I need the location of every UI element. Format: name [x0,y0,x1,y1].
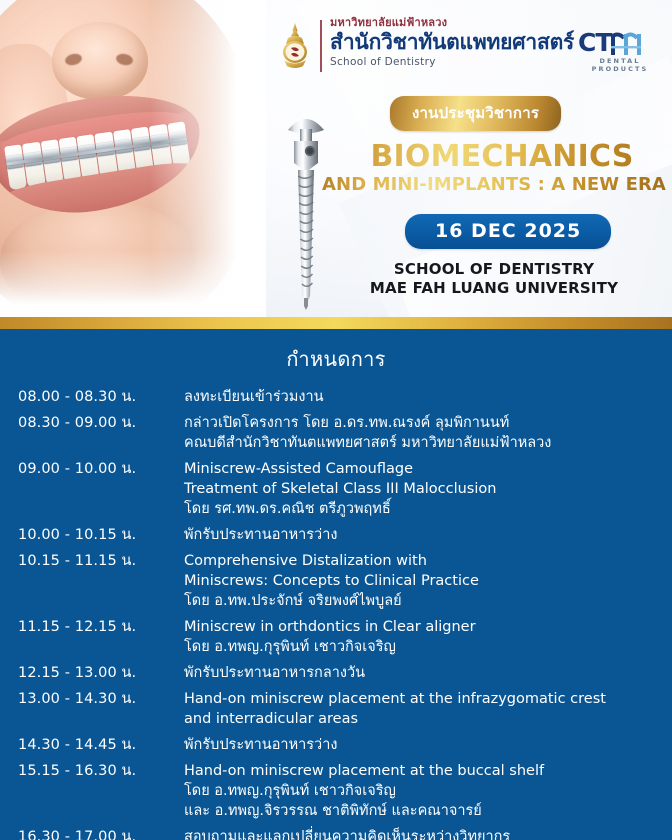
venue-line-1: SCHOOL OF DENTISTRY [318,260,670,279]
schedule-row-line: สอบถามและแลกเปลี่ยนความคิดเห็นระหว่างวิท… [184,827,658,840]
schedule-row-line: พักรับประทานอาหารว่าง [184,525,658,545]
schedule-row: 08.00 - 08.30 น.ลงทะเบียนเข้าร่วมงาน [18,387,658,407]
schedule-row-line: Hand-on miniscrew placement at the infra… [184,689,658,709]
ctm-dental-products-logo: CT DENTAL PRODUCTS [578,30,662,64]
schedule-row-description: Miniscrew-Assisted CamouflageTreatment o… [184,459,658,519]
schedule-row: 16.30 - 17.00 น.สอบถามและแลกเปลี่ยนความค… [18,827,658,840]
schedule-row-line: Miniscrew-Assisted Camouflage [184,459,658,479]
schedule-rows: 08.00 - 08.30 น.ลงทะเบียนเข้าร่วมงาน08.3… [0,387,672,840]
ctm-letters: CT [578,30,611,55]
schedule-section: กำหนดการ 08.00 - 08.30 น.ลงทะเบียนเข้าร่… [0,329,672,840]
schedule-row-time: 14.30 - 14.45 น. [18,735,184,755]
schedule-row-line: โดย อ.ทพญ.กุรุพินท์ เชาวกิจเจริญ [184,781,658,801]
schedule-row-time: 12.15 - 13.00 น. [18,663,184,683]
schedule-row-line: Comprehensive Distalization with [184,551,658,571]
schedule-row-line: Hand-on miniscrew placement at the bucca… [184,761,658,781]
schedule-row-time: 08.30 - 09.00 น. [18,413,184,433]
schedule-row-description: พักรับประทานอาหารว่าง [184,525,658,545]
schedule-row-time: 15.15 - 16.30 น. [18,761,184,781]
schedule-row-line: โดย อ.ทพญ.กุรุพินท์ เชาวกิจเจริญ [184,637,658,657]
schedule-row: 14.30 - 14.45 น.พักรับประทานอาหารว่าง [18,735,658,755]
schedule-row-time: 16.30 - 17.00 น. [18,827,184,840]
event-date-badge: 16 DEC 2025 [405,214,611,249]
schedule-row: 10.00 - 10.15 น.พักรับประทานอาหารว่าง [18,525,658,545]
schedule-row-description: Hand-on miniscrew placement at the bucca… [184,761,658,821]
schedule-row-time: 08.00 - 08.30 น. [18,387,184,407]
schedule-row: 13.00 - 14.30 น.Hand-on miniscrew placem… [18,689,658,729]
schedule-row-description: Miniscrew in orthdontics in Clear aligne… [184,617,658,657]
schedule-row-line: and interradicular areas [184,709,658,729]
event-type-badge: งานประชุมวิชาการ [390,96,561,131]
ctm-bridge-icon [611,30,641,55]
schedule-row-line: พักรับประทานอาหารกลางวัน [184,663,658,683]
schedule-row-time: 11.15 - 12.15 น. [18,617,184,637]
schedule-row: 09.00 - 10.00 น.Miniscrew-Assisted Camou… [18,459,658,519]
schedule-row-description: กล่าวเปิดโครงการ โดย อ.ดร.ทพ.ณรงค์ ลุมพิ… [184,413,658,453]
school-name-thai: สำนักวิชาทันตแพทยศาสตร์ [330,30,560,54]
university-name-thai: มหาวิทยาลัยแม่ฟ้าหลวง [330,16,560,29]
university-logo-text: มหาวิทยาลัยแม่ฟ้าหลวง สำนักวิชาทันตแพทยศ… [330,16,560,69]
poster-subtitle: AND MINI-IMPLANTS : A NEW ERA [318,174,670,196]
schedule-row-line: ลงทะเบียนเข้าร่วมงาน [184,387,658,407]
seminar-poster: มหาวิทยาลัยแม่ฟ้าหลวง สำนักวิชาทันตแพทยศ… [0,0,672,840]
schedule-row-time: 13.00 - 14.30 น. [18,689,184,709]
schedule-title: กำหนดการ [0,329,672,375]
schedule-row: 11.15 - 12.15 น.Miniscrew in orthdontics… [18,617,658,657]
ctm-tagline: DENTAL PRODUCTS [578,57,662,73]
schedule-row-line: Miniscrews: Concepts to Clinical Practic… [184,571,658,591]
schedule-row-description: สอบถามและแลกเปลี่ยนความคิดเห็นระหว่างวิท… [184,827,658,840]
poster-title: BIOMECHANICS [336,140,668,174]
schedule-row-time: 10.00 - 10.15 น. [18,525,184,545]
venue-line-2: MAE FAH LUANG UNIVERSITY [318,279,670,298]
schedule-row-description: Hand-on miniscrew placement at the infra… [184,689,658,729]
schedule-row: 15.15 - 16.30 น.Hand-on miniscrew placem… [18,761,658,821]
schedule-row-time: 09.00 - 10.00 น. [18,459,184,479]
schedule-row-description: พักรับประทานอาหารกลางวัน [184,663,658,683]
schedule-row: 08.30 - 09.00 น.กล่าวเปิดโครงการ โดย อ.ด… [18,413,658,453]
hero-section: มหาวิทยาลัยแม่ฟ้าหลวง สำนักวิชาทันตแพทยศ… [0,0,672,317]
school-name-english: School of Dentistry [330,56,560,69]
schedule-row-description: Comprehensive Distalization withMiniscre… [184,551,658,611]
schedule-row-line: พักรับประทานอาหารว่าง [184,735,658,755]
venue-block: SCHOOL OF DENTISTRY MAE FAH LUANG UNIVER… [318,260,670,298]
schedule-row-line: คณบดีสำนักวิชาทันตแพทยศาสตร์ มหาวิทยาลัย… [184,433,658,453]
mfu-crown-emblem-icon [278,22,312,70]
ctm-wordmark: CT [578,30,662,55]
gold-divider-stripe [0,317,672,329]
schedule-row-line: โดย อ.ทพ.ประจักษ์ จริยพงศ์ไพบูลย์ [184,591,658,611]
schedule-row-time: 10.15 - 11.15 น. [18,551,184,571]
smiling-braces-photo [0,0,266,317]
schedule-row-description: ลงทะเบียนเข้าร่วมงาน [184,387,658,407]
photo-fade-bottom [0,250,266,317]
schedule-row-line: Treatment of Skeletal Class III Malocclu… [184,479,658,499]
logo-divider [320,20,322,72]
schedule-row-line: Miniscrew in orthdontics in Clear aligne… [184,617,658,637]
schedule-row-description: พักรับประทานอาหารว่าง [184,735,658,755]
schedule-row-line: โดย รศ.ทพ.ดร.คณิช ตรีภูวพฤทธิ์ [184,499,658,519]
schedule-row-line: กล่าวเปิดโครงการ โดย อ.ดร.ทพ.ณรงค์ ลุมพิ… [184,413,658,433]
schedule-row: 10.15 - 11.15 น.Comprehensive Distalizat… [18,551,658,611]
schedule-row-line: และ อ.ทพญ.จิรวรรณ ชาติพิทักษ์ และคณาจารย… [184,801,658,821]
schedule-row: 12.15 - 13.00 น.พักรับประทานอาหารกลางวัน [18,663,658,683]
